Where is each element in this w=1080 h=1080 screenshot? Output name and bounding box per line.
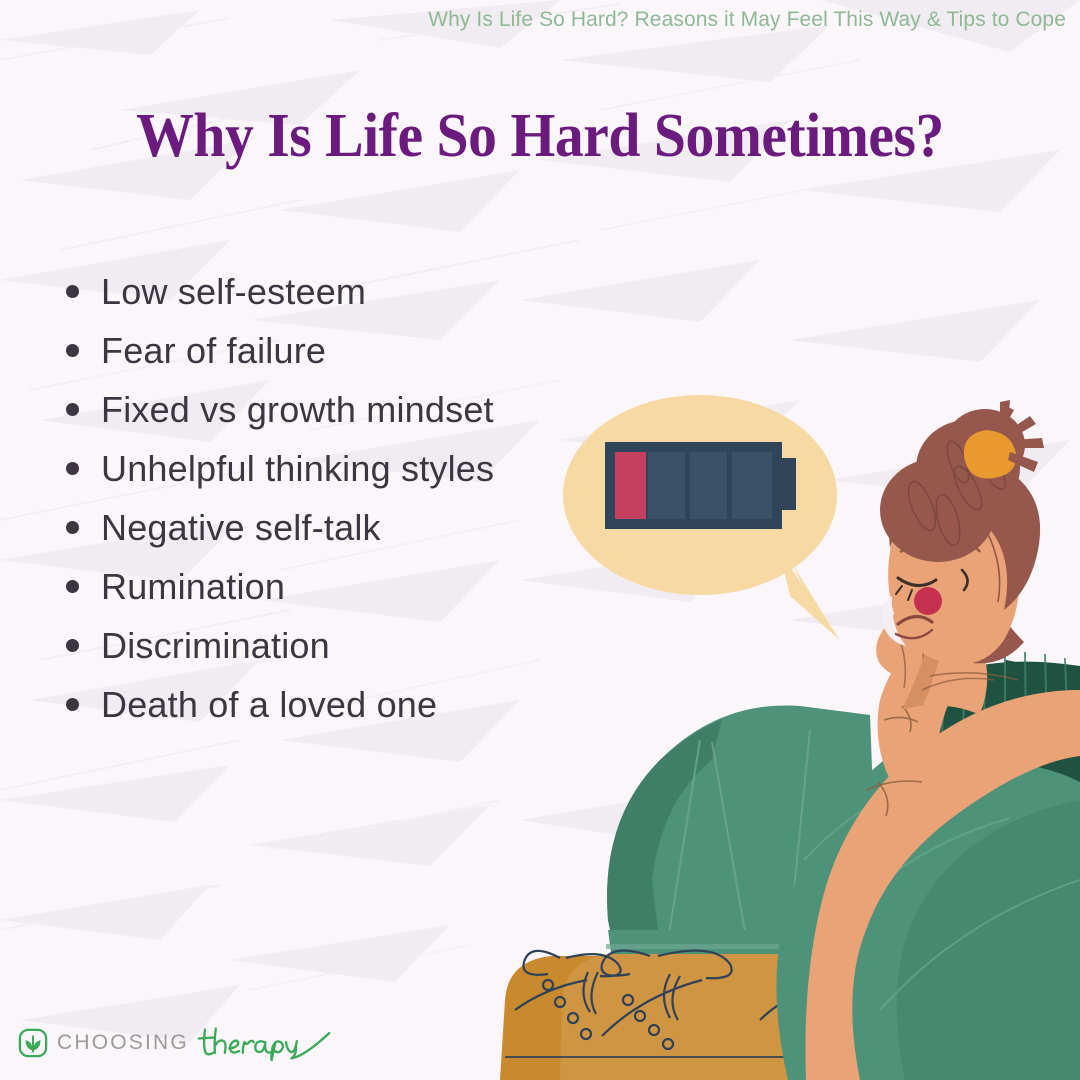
list-item: Rumination (66, 557, 626, 616)
list-item: Death of a loved one (66, 675, 626, 734)
infographic-canvas: Why Is Life So Hard? Reasons it May Feel… (0, 0, 1080, 1080)
hair-bun (880, 400, 1044, 562)
list-item-label: Discrimination (101, 628, 330, 664)
sweater-collar (912, 652, 1080, 748)
bullet-icon (66, 344, 79, 357)
face (881, 491, 1019, 664)
logo-script-therapy: therapy (196, 1024, 331, 1062)
list-item: Discrimination (66, 616, 626, 675)
article-header-title: Why Is Life So Hard? Reasons it May Feel… (428, 8, 1066, 32)
list-item-label: Death of a loved one (101, 687, 437, 723)
sweater-body (776, 660, 1080, 1080)
page-title: Why Is Life So Hard Sometimes? (38, 104, 1042, 169)
boots (500, 951, 838, 1080)
legs-pants (606, 705, 882, 1080)
neck (902, 610, 1018, 714)
reason-list: Low self-esteem Fear of failure Fixed vs… (66, 262, 626, 734)
bullet-icon (66, 639, 79, 652)
list-item: Negative self-talk (66, 498, 626, 557)
leaf-icon (18, 1028, 48, 1058)
low-battery-icon (605, 442, 796, 529)
choosing-therapy-logo[interactable]: CHOOSING therapy (18, 1024, 331, 1062)
bullet-icon (66, 403, 79, 416)
header-bar: Why Is Life So Hard? Reasons it May Feel… (0, 0, 1080, 40)
bullet-icon (66, 462, 79, 475)
hair-back (892, 472, 1024, 663)
bullet-icon (66, 521, 79, 534)
cheek-blush (914, 587, 942, 615)
list-item-label: Unhelpful thinking styles (101, 451, 494, 487)
logo-word: CHOOSING (57, 1031, 189, 1055)
bullet-icon (66, 285, 79, 298)
list-item-label: Fear of failure (101, 333, 326, 369)
arm (805, 640, 1080, 1080)
list-item-label: Fixed vs growth mindset (101, 392, 494, 428)
hair-strands (994, 400, 1044, 472)
list-item: Fear of failure (66, 321, 626, 380)
list-item: Fixed vs growth mindset (66, 380, 626, 439)
list-item-label: Negative self-talk (101, 510, 381, 546)
bullet-icon (66, 698, 79, 711)
bullet-icon (66, 580, 79, 593)
list-item: Unhelpful thinking styles (66, 439, 626, 498)
hand (876, 576, 979, 688)
list-item-label: Low self-esteem (101, 274, 366, 310)
list-item-label: Rumination (101, 569, 285, 605)
closed-eye (896, 578, 936, 600)
hair-front (889, 459, 1040, 610)
list-item: Low self-esteem (66, 262, 626, 321)
